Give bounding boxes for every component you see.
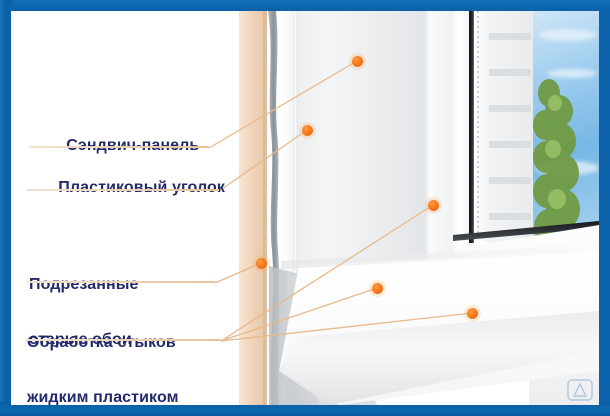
label-rule-trimmed-wallpaper [27, 281, 215, 283]
dot-joint-mid [372, 283, 383, 294]
window-slope-photo [239, 11, 599, 405]
diagram-canvas: Сэндвич-панель Пластиковый уголок Подрез… [11, 11, 599, 405]
label-rule-plastic-corner [27, 189, 219, 191]
cloud-shape [539, 29, 597, 41]
dot-plastic-corner [302, 125, 313, 136]
dot-wallpaper [256, 258, 267, 269]
old-wallpaper-strip [239, 11, 265, 405]
label-trimmed-wallpaper-line1: Подрезанные [29, 276, 139, 294]
outside-view-siding [487, 11, 533, 243]
label-liquid-plastic-joints: Обработка стыков жидким пластиком [27, 297, 179, 405]
dot-joint-lower [467, 308, 478, 319]
label-liquid-plastic-joints-line1: Обработка стыков [27, 334, 179, 352]
dot-sandwich-panel [352, 56, 363, 67]
label-rule-sandwich-panel [29, 146, 209, 148]
window-glazing [487, 11, 599, 243]
label-rule-liquid-plastic-joints [25, 339, 221, 341]
site-logo-watermark [567, 379, 593, 401]
sash-stipple-texture [477, 11, 479, 239]
screenshot-root: Сэндвич-панель Пластиковый уголок Подрез… [0, 0, 610, 416]
sandwich-panel-highlight [429, 11, 455, 261]
label-plastic-corner-text: Пластиковый уголок [58, 179, 225, 196]
outside-view-tree [533, 53, 585, 243]
dot-joint-upper [428, 200, 439, 211]
blue-border-top [0, 0, 610, 10]
label-liquid-plastic-joints-line2: жидким пластиком [27, 389, 179, 405]
